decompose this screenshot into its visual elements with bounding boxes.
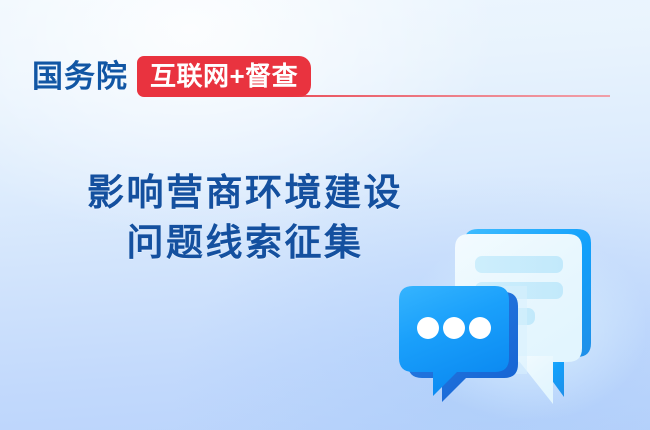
small-bubble-dot-3: [469, 317, 491, 339]
big-bubble-text-bar-1: [475, 256, 563, 273]
small-bubble-dot-2: [443, 317, 465, 339]
chat-bubbles-illustration: [395, 198, 645, 430]
internet-plus-supervision-badge: 互联网+督查: [137, 56, 311, 97]
gov-logo-text: 国务院: [32, 61, 128, 92]
small-bubble-dot-1: [417, 317, 439, 339]
banner-root: 国务院 互联网+督查 影响营商环境建设 问题线索征集: [0, 0, 650, 430]
banner-header: 国务院 互联网+督查: [32, 52, 311, 100]
header-divider-rule: [292, 95, 610, 97]
